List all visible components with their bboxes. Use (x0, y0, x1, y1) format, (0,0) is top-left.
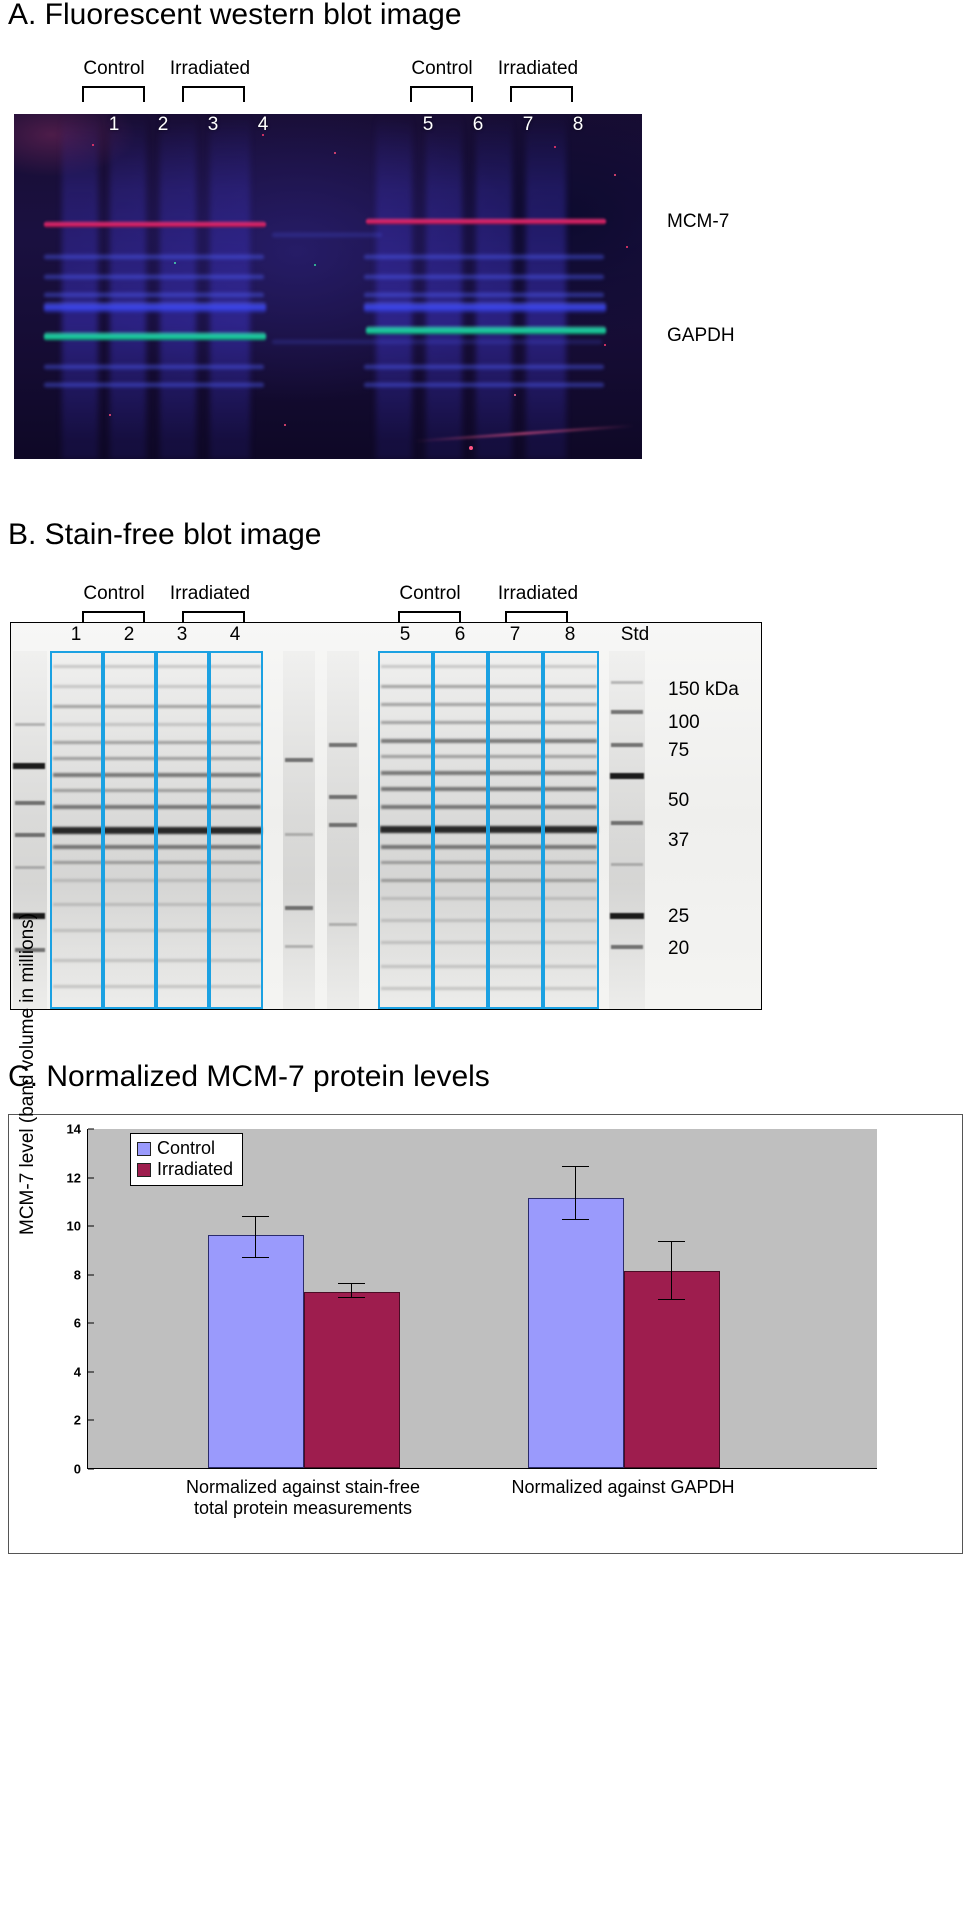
speck (554, 146, 556, 148)
x-category-line: Normalized against stain-free (186, 1477, 420, 1498)
y-tick-label-8: 8 (74, 1267, 88, 1282)
x-category-label-gapdh: Normalized against GAPDH (511, 1477, 734, 1498)
lane-label-std: Std (621, 624, 650, 646)
y-tick-label-12: 12 (67, 1170, 88, 1185)
speck (334, 152, 336, 154)
mw-marker-20: 20 (668, 938, 689, 960)
error-bar-irradiated-stainfree (351, 1284, 352, 1299)
ladder-band (285, 906, 313, 910)
legend-swatch-irradiated (137, 1163, 151, 1177)
group-label-irradiated-1: Irradiated (155, 58, 265, 80)
lane-number: 4 (258, 114, 269, 136)
error-cap-upper (338, 1283, 365, 1284)
mcm7-band (366, 218, 606, 225)
lane-glow (110, 114, 146, 459)
group-label-irradiated-2: Irradiated (483, 583, 593, 605)
group-label-control-2: Control (400, 58, 484, 80)
group-label-irradiated-1: Irradiated (155, 583, 265, 605)
lane-number: 2 (158, 114, 169, 136)
y-tick-label-6: 6 (74, 1316, 88, 1331)
ladder-band (329, 743, 357, 747)
protein-label-gapdh: GAPDH (667, 325, 735, 347)
panel-b-lane-numbers: 1 2 3 4 5 6 7 8 Std (10, 624, 762, 652)
lane-number: 5 (400, 624, 411, 646)
group-label-control-1: Control (72, 58, 156, 80)
lane-number: 3 (208, 114, 219, 136)
lane-glow (526, 114, 566, 459)
roi-box-lane-6[interactable] (433, 651, 488, 1009)
ladder-band (329, 923, 357, 926)
gapdh-band (44, 332, 266, 341)
background-band (44, 274, 264, 280)
y-tick-mark (88, 1226, 94, 1227)
fluorescent-blot-image (14, 114, 642, 459)
background-band (364, 382, 604, 388)
ladder-band (611, 710, 643, 714)
bar-irradiated-stainfree (304, 1292, 400, 1468)
speck (614, 174, 616, 176)
speck (284, 424, 286, 426)
error-cap-lower (338, 1297, 365, 1298)
lane-glow (210, 114, 250, 459)
mw-marker-50: 50 (668, 790, 689, 812)
y-tick-label-10: 10 (67, 1219, 88, 1234)
roi-box-lane-5[interactable] (378, 651, 433, 1009)
background-band (44, 292, 264, 298)
panel-b-title: B. Stain-free blot image (8, 518, 322, 552)
legend-label-control: Control (157, 1138, 215, 1159)
speck (109, 414, 111, 416)
mw-marker-100: 100 (668, 712, 700, 734)
panel-a-group-header: Control Irradiated Control Irradiated (0, 58, 975, 116)
ladder-band (611, 681, 643, 684)
ladder-band (610, 773, 644, 779)
chart-legend: Control Irradiated (130, 1133, 243, 1186)
lane-glow (160, 114, 196, 459)
background-band (364, 364, 604, 370)
mw-marker-37: 37 (668, 830, 689, 852)
lane-glow (476, 114, 512, 459)
legend-label-irradiated: Irradiated (157, 1159, 233, 1180)
ladder-band (611, 863, 643, 866)
roi-box-lane-4[interactable] (209, 651, 263, 1009)
error-bar-irradiated-gapdh (671, 1242, 672, 1300)
speck (514, 394, 516, 396)
x-category-line: Normalized against GAPDH (511, 1477, 734, 1498)
chart-plot-area: 14 12 10 8 6 4 2 0 (87, 1129, 877, 1469)
lane-number: 8 (565, 624, 576, 646)
roi-box-lane-8[interactable] (543, 651, 599, 1009)
group-label-control-1: Control (72, 583, 156, 605)
gapdh-band (366, 326, 606, 335)
y-tick-label-14: 14 (67, 1122, 88, 1137)
lane-glow (376, 114, 412, 459)
error-cap-lower (658, 1299, 685, 1300)
speck (314, 264, 316, 266)
y-tick-mark (88, 1371, 94, 1372)
roi-box-lane-2[interactable] (103, 651, 156, 1009)
ladder-band (611, 945, 643, 949)
roi-box-lane-3[interactable] (156, 651, 209, 1009)
ladder-band (285, 758, 313, 762)
group-label-control-2: Control (388, 583, 472, 605)
y-tick-mark (88, 1420, 94, 1421)
legend-item-irradiated[interactable]: Irradiated (137, 1159, 233, 1180)
normalized-mcm7-chart: MCM-7 level (band volume in millions) 14… (8, 1114, 963, 1554)
speck (604, 344, 606, 346)
background-band (364, 254, 604, 260)
y-tick-label-0: 0 (74, 1462, 88, 1477)
protein-label-mcm7: MCM-7 (667, 211, 729, 233)
ladder-band (329, 795, 357, 799)
x-category-label-stainfree: Normalized against stain-free total prot… (186, 1477, 420, 1519)
roi-box-lane-7[interactable] (488, 651, 543, 1009)
lane-glow (62, 114, 98, 459)
lane-number: 7 (510, 624, 521, 646)
mw-marker-150: 150 kDa (668, 679, 739, 701)
bar-irradiated-gapdh (624, 1271, 720, 1468)
group-bracket-3 (410, 86, 473, 102)
lane-number: 1 (71, 624, 82, 646)
lane-number: 6 (473, 114, 484, 136)
lane-number: 3 (177, 624, 188, 646)
speck (92, 144, 94, 146)
lane-number: 8 (573, 114, 584, 136)
ladder-band (13, 763, 45, 769)
speck (469, 446, 473, 450)
panel-c-title: C. Normalized MCM-7 protein levels (8, 1060, 490, 1094)
lane-glow (426, 114, 462, 459)
lane-number: 6 (455, 624, 466, 646)
error-cap-lower (562, 1219, 589, 1220)
panel-a-lane-numbers: 1 2 3 4 5 6 7 8 (14, 114, 642, 142)
y-tick-mark (88, 1177, 94, 1178)
error-bar-control-stainfree (255, 1217, 256, 1259)
lane-number: 1 (109, 114, 120, 136)
error-cap-upper (242, 1216, 269, 1217)
lane-strip (283, 651, 315, 1009)
y-tick-mark (88, 1129, 94, 1130)
group-bracket-1 (82, 86, 145, 102)
legend-swatch-control (137, 1142, 151, 1156)
ladder-band (285, 945, 313, 948)
background-band (44, 364, 264, 370)
roi-box-lane-1[interactable] (50, 651, 103, 1009)
lane-number: 2 (124, 624, 135, 646)
mcm7-band (44, 221, 266, 228)
background-band (364, 274, 604, 280)
lane-number: 4 (230, 624, 241, 646)
ladder-band (610, 913, 644, 919)
error-cap-upper (562, 1166, 589, 1167)
ladder-band (15, 723, 45, 726)
ladder-band (15, 833, 45, 837)
ladder-band (611, 821, 643, 825)
y-tick-label-4: 4 (74, 1364, 88, 1379)
y-tick-mark (88, 1274, 94, 1275)
lane-strip (609, 651, 645, 1009)
ladder-band (15, 866, 45, 869)
ladder-band (329, 823, 357, 827)
mw-marker-25: 25 (668, 906, 689, 928)
ladder-band (611, 743, 643, 747)
speck (626, 246, 628, 248)
error-bar-control-gapdh (575, 1167, 576, 1220)
y-tick-mark (88, 1323, 94, 1324)
ladder-band (285, 833, 313, 836)
y-tick-mark (88, 1469, 94, 1470)
group-bracket-4 (510, 86, 573, 102)
group-bracket-2 (182, 86, 245, 102)
background-band (364, 292, 604, 298)
background-band (44, 254, 264, 260)
error-cap-lower (242, 1257, 269, 1258)
x-category-line: total protein measurements (186, 1498, 420, 1519)
background-band (364, 302, 606, 313)
bar-control-stainfree (208, 1235, 304, 1468)
y-axis-label: MCM-7 level (band volume in millions) (17, 913, 39, 1235)
background-band (272, 232, 382, 238)
error-cap-upper (658, 1241, 685, 1242)
bar-control-gapdh (528, 1198, 624, 1468)
panel-a-title: A. Fluorescent western blot image (8, 0, 462, 32)
legend-item-control[interactable]: Control (137, 1138, 233, 1159)
background-band (272, 339, 602, 345)
stain-free-blot-image (10, 622, 762, 1010)
lane-strip (327, 651, 359, 1009)
lane-number: 7 (523, 114, 534, 136)
background-band (44, 302, 266, 313)
speck (174, 262, 176, 264)
mw-marker-75: 75 (668, 740, 689, 762)
group-label-irradiated-2: Irradiated (483, 58, 593, 80)
y-tick-label-2: 2 (74, 1413, 88, 1428)
ladder-band (15, 801, 45, 805)
lane-number: 5 (423, 114, 434, 136)
background-band (44, 382, 264, 388)
